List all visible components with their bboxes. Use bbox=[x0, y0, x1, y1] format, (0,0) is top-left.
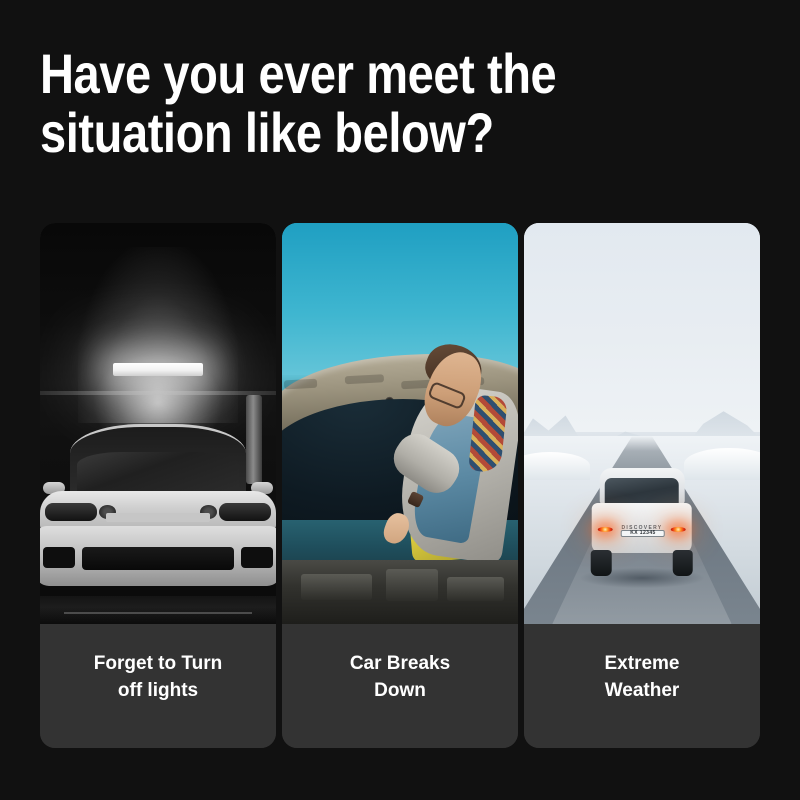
mechanic-person bbox=[367, 351, 513, 576]
card-footer: Forget to Turn off lights bbox=[40, 624, 276, 748]
fluorescent-lamp-icon bbox=[113, 363, 203, 376]
engine-bay bbox=[282, 560, 518, 624]
ceiling-beam bbox=[40, 391, 276, 395]
scenario-card-row: Forget to Turn off lights bbox=[40, 223, 761, 748]
suv-body: DISCOVERY KX 12345 bbox=[592, 503, 692, 553]
car-headlight-left-icon bbox=[45, 503, 97, 521]
ceiling-light-glow-icon bbox=[78, 247, 238, 423]
scenario-card-forget-lights[interactable]: Forget to Turn off lights bbox=[40, 223, 276, 748]
card-label-car-breaks-down: Car Breaks Down bbox=[350, 650, 450, 704]
silver-car bbox=[40, 424, 276, 600]
suv-wheel-right bbox=[672, 550, 693, 576]
engine-component bbox=[386, 569, 438, 601]
taillight-left-icon bbox=[598, 527, 613, 532]
discovery-suv: DISCOVERY KX 12345 bbox=[588, 468, 697, 576]
garage-floor-line bbox=[64, 612, 253, 614]
car-headlight-right-icon bbox=[219, 503, 271, 521]
garage-floor bbox=[40, 596, 276, 624]
car-side-intake-right bbox=[241, 547, 273, 568]
engine-component bbox=[301, 574, 372, 600]
card-label-extreme-weather: Extreme Weather bbox=[605, 650, 680, 704]
suv-wheel-left bbox=[591, 550, 612, 576]
engine-component bbox=[447, 577, 504, 601]
card-label-forget-lights: Forget to Turn off lights bbox=[94, 650, 222, 704]
car-grille bbox=[106, 513, 209, 522]
garage-car-image bbox=[40, 223, 276, 624]
scenario-card-extreme-weather[interactable]: DISCOVERY KX 12345 Extreme Weather bbox=[524, 223, 760, 748]
license-plate: KX 12345 bbox=[621, 530, 665, 537]
snow-road-image: DISCOVERY KX 12345 bbox=[524, 223, 760, 624]
open-hood-image bbox=[282, 223, 518, 624]
card-footer: Car Breaks Down bbox=[282, 624, 518, 748]
car-side-intake-left bbox=[43, 547, 75, 568]
taillight-right-icon bbox=[671, 527, 686, 532]
scenario-card-car-breaks-down[interactable]: Car Breaks Down bbox=[282, 223, 518, 748]
hood-vent bbox=[283, 379, 317, 390]
page-title: Have you ever meet the situation like be… bbox=[40, 44, 628, 162]
suv-rear-window bbox=[605, 478, 679, 506]
car-air-intake bbox=[82, 547, 234, 570]
card-footer: Extreme Weather bbox=[524, 624, 760, 748]
